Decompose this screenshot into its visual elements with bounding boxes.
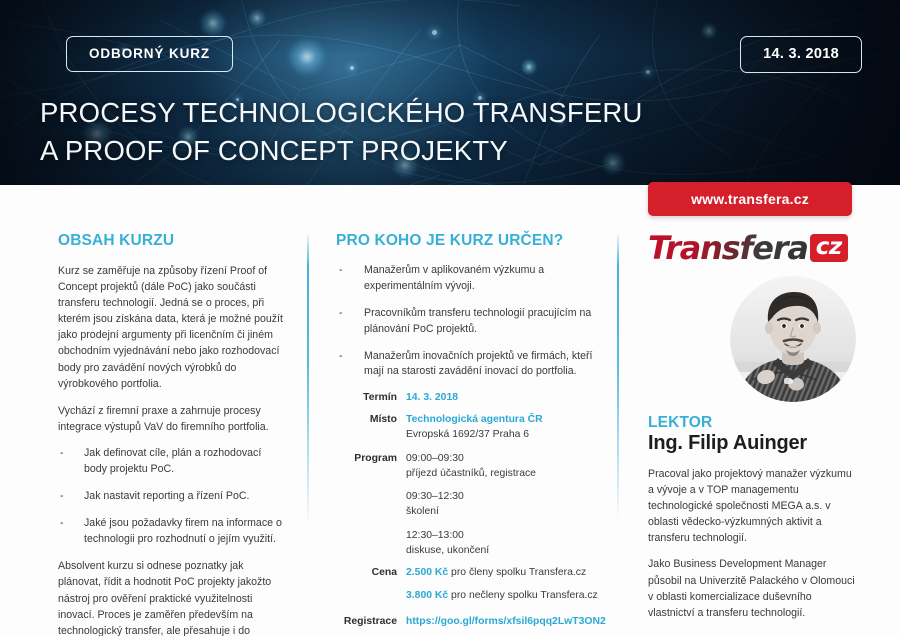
detail-label-program: Program [336,451,406,557]
section-heading-pro-koho: PRO KOHO JE KURZ URČEN? [336,232,598,250]
column-divider-right [617,232,619,520]
list-item: -Manažerům v aplikovaném výzkumu a exper… [336,263,598,295]
detail-label-termin: Termín [336,390,406,405]
list-item-label: Manažerům v aplikovaném výzkumu a experi… [364,264,544,292]
detail-value-program: 09:00–09:30 příjezd účastníků, registrac… [406,451,606,557]
obsah-paragraph-2: Vychází z firemní praxe a zahrnuje proce… [58,403,286,435]
detail-value-registrace: https://goo.gl/forms/xfsil6pqq2LwT3ON2 [406,614,606,629]
detail-row-program: Program 09:00–09:30 příjezd účastníků, r… [336,451,606,557]
venue-name: Technologická agentura ČR [406,412,606,427]
obsah-paragraph-3: Absolvent kurzu si odnese poznatky jak p… [58,558,286,636]
detail-label-misto: Místo [336,412,406,442]
detail-row-termin: Termín 14. 3. 2018 [336,390,606,405]
dash-icon: - [339,263,343,279]
transfera-logo[interactable]: Transfera cz [648,228,862,268]
website-ribbon[interactable]: www.transfera.cz [648,182,852,216]
price-member: 2.500 Kč pro členy spolku Transfera.cz [406,565,606,580]
lecturer-column: Transfera cz [648,228,862,276]
lecturer-bio-paragraph-2: Jako Business Development Manager působi… [648,556,860,620]
dash-icon: - [339,306,343,322]
course-content-column: OBSAH KURZU Kurz se zaměřuje na způsoby … [58,232,286,636]
dash-icon: - [60,489,64,505]
list-item-label: Jak nastavit reporting a řízení PoC. [84,490,249,502]
target-audience-column: PRO KOHO JE KURZ URČEN? -Manažerům v apl… [336,232,598,391]
list-item: -Jaké jsou požadavky firem na informace … [58,516,286,548]
audience-bullet-list: -Manažerům v aplikovaném výzkumu a exper… [336,263,598,380]
list-item: -Manažerům inovačních projektů ve firmác… [336,349,598,381]
lecturer-photo [730,276,856,402]
price-nonmember-amount: 3.800 Kč [406,590,448,601]
logo-wordmark: Transfera [648,229,808,267]
list-item-label: Jak definovat cíle, plán a rozhodovací b… [84,447,261,475]
price-member-text: pro členy spolku Transfera.cz [448,567,586,578]
course-type-badge: ODBORNÝ KURZ [66,36,233,72]
logo-cz-badge: cz [810,234,848,263]
program-item: 09:30–12:30 školení [406,489,606,519]
program-time: 12:30–13:00 [406,528,606,543]
venue-address: Evropská 1692/37 Praha 6 [406,427,606,442]
price-nonmember-text: pro nečleny spolku Transfera.cz [448,590,598,601]
dash-icon: - [339,349,343,365]
obsah-paragraph-1: Kurz se zaměřuje na způsoby řízení Proof… [58,263,286,392]
list-item-label: Manažerům inovačních projektů ve firmách… [364,350,592,378]
event-details-table: Termín 14. 3. 2018 Místo Technologická a… [336,390,606,636]
list-item-label: Jaké jsou požadavky firem na informace o… [84,517,282,545]
program-time: 09:00–09:30 [406,451,606,466]
page-title-line2: A PROOF OF CONCEPT PROJEKTY [40,132,643,170]
lecturer-bio: Pracoval jako projektový manažer výzkumu… [648,466,860,631]
detail-label-registrace: Registrace [336,614,406,629]
program-item: 09:00–09:30 příjezd účastníků, registrac… [406,451,606,481]
page-title-line1: PROCESY TECHNOLOGICKÉHO TRANSFERU [40,97,643,128]
lecturer-label: LEKTOR [648,414,712,432]
poster-page: ODBORNÝ KURZ 14. 3. 2018 PROCESY TECHNOL… [0,0,900,636]
program-desc: diskuse, ukončení [406,543,606,558]
detail-value-misto: Technologická agentura ČR Evropská 1692/… [406,412,606,442]
dash-icon: - [60,446,64,462]
program-time: 09:30–12:30 [406,489,606,504]
list-item-label: Pracovníkům transferu technologií pracuj… [364,307,591,335]
section-heading-obsah: OBSAH KURZU [58,232,286,250]
detail-row-misto: Místo Technologická agentura ČR Evropská… [336,412,606,442]
detail-row-cena: Cena 2.500 Kč pro členy spolku Transfera… [336,565,606,603]
dash-icon: - [60,516,64,532]
column-divider-left [307,232,309,524]
page-title: PROCESY TECHNOLOGICKÉHO TRANSFERU A PROO… [40,94,643,170]
lecturer-name: Ing. Filip Auinger [648,432,807,455]
list-item: -Jak definovat cíle, plán a rozhodovací … [58,446,286,478]
detail-label-cena: Cena [336,565,406,603]
lecturer-portrait-graphic [730,276,856,402]
obsah-bullet-list: -Jak definovat cíle, plán a rozhodovací … [58,446,286,547]
registration-link[interactable]: https://goo.gl/forms/xfsil6pqq2LwT3ON2 [406,616,606,627]
event-date-badge: 14. 3. 2018 [740,36,862,73]
lecturer-bio-paragraph-1: Pracoval jako projektový manažer výzkumu… [648,466,860,546]
list-item: -Pracovníkům transferu technologií pracu… [336,306,598,338]
program-desc: školení [406,504,606,519]
price-nonmember: 3.800 Kč pro nečleny spolku Transfera.cz [406,588,606,603]
detail-value-cena: 2.500 Kč pro členy spolku Transfera.cz 3… [406,565,606,603]
price-member-amount: 2.500 Kč [406,567,448,578]
program-item: 12:30–13:00 diskuse, ukončení [406,528,606,558]
program-desc: příjezd účastníků, registrace [406,466,606,481]
detail-value-termin: 14. 3. 2018 [406,390,606,405]
list-item: -Jak nastavit reporting a řízení PoC. [58,489,286,505]
detail-row-registrace: Registrace https://goo.gl/forms/xfsil6pq… [336,614,606,629]
header-banner: ODBORNÝ KURZ 14. 3. 2018 PROCESY TECHNOL… [0,0,900,185]
